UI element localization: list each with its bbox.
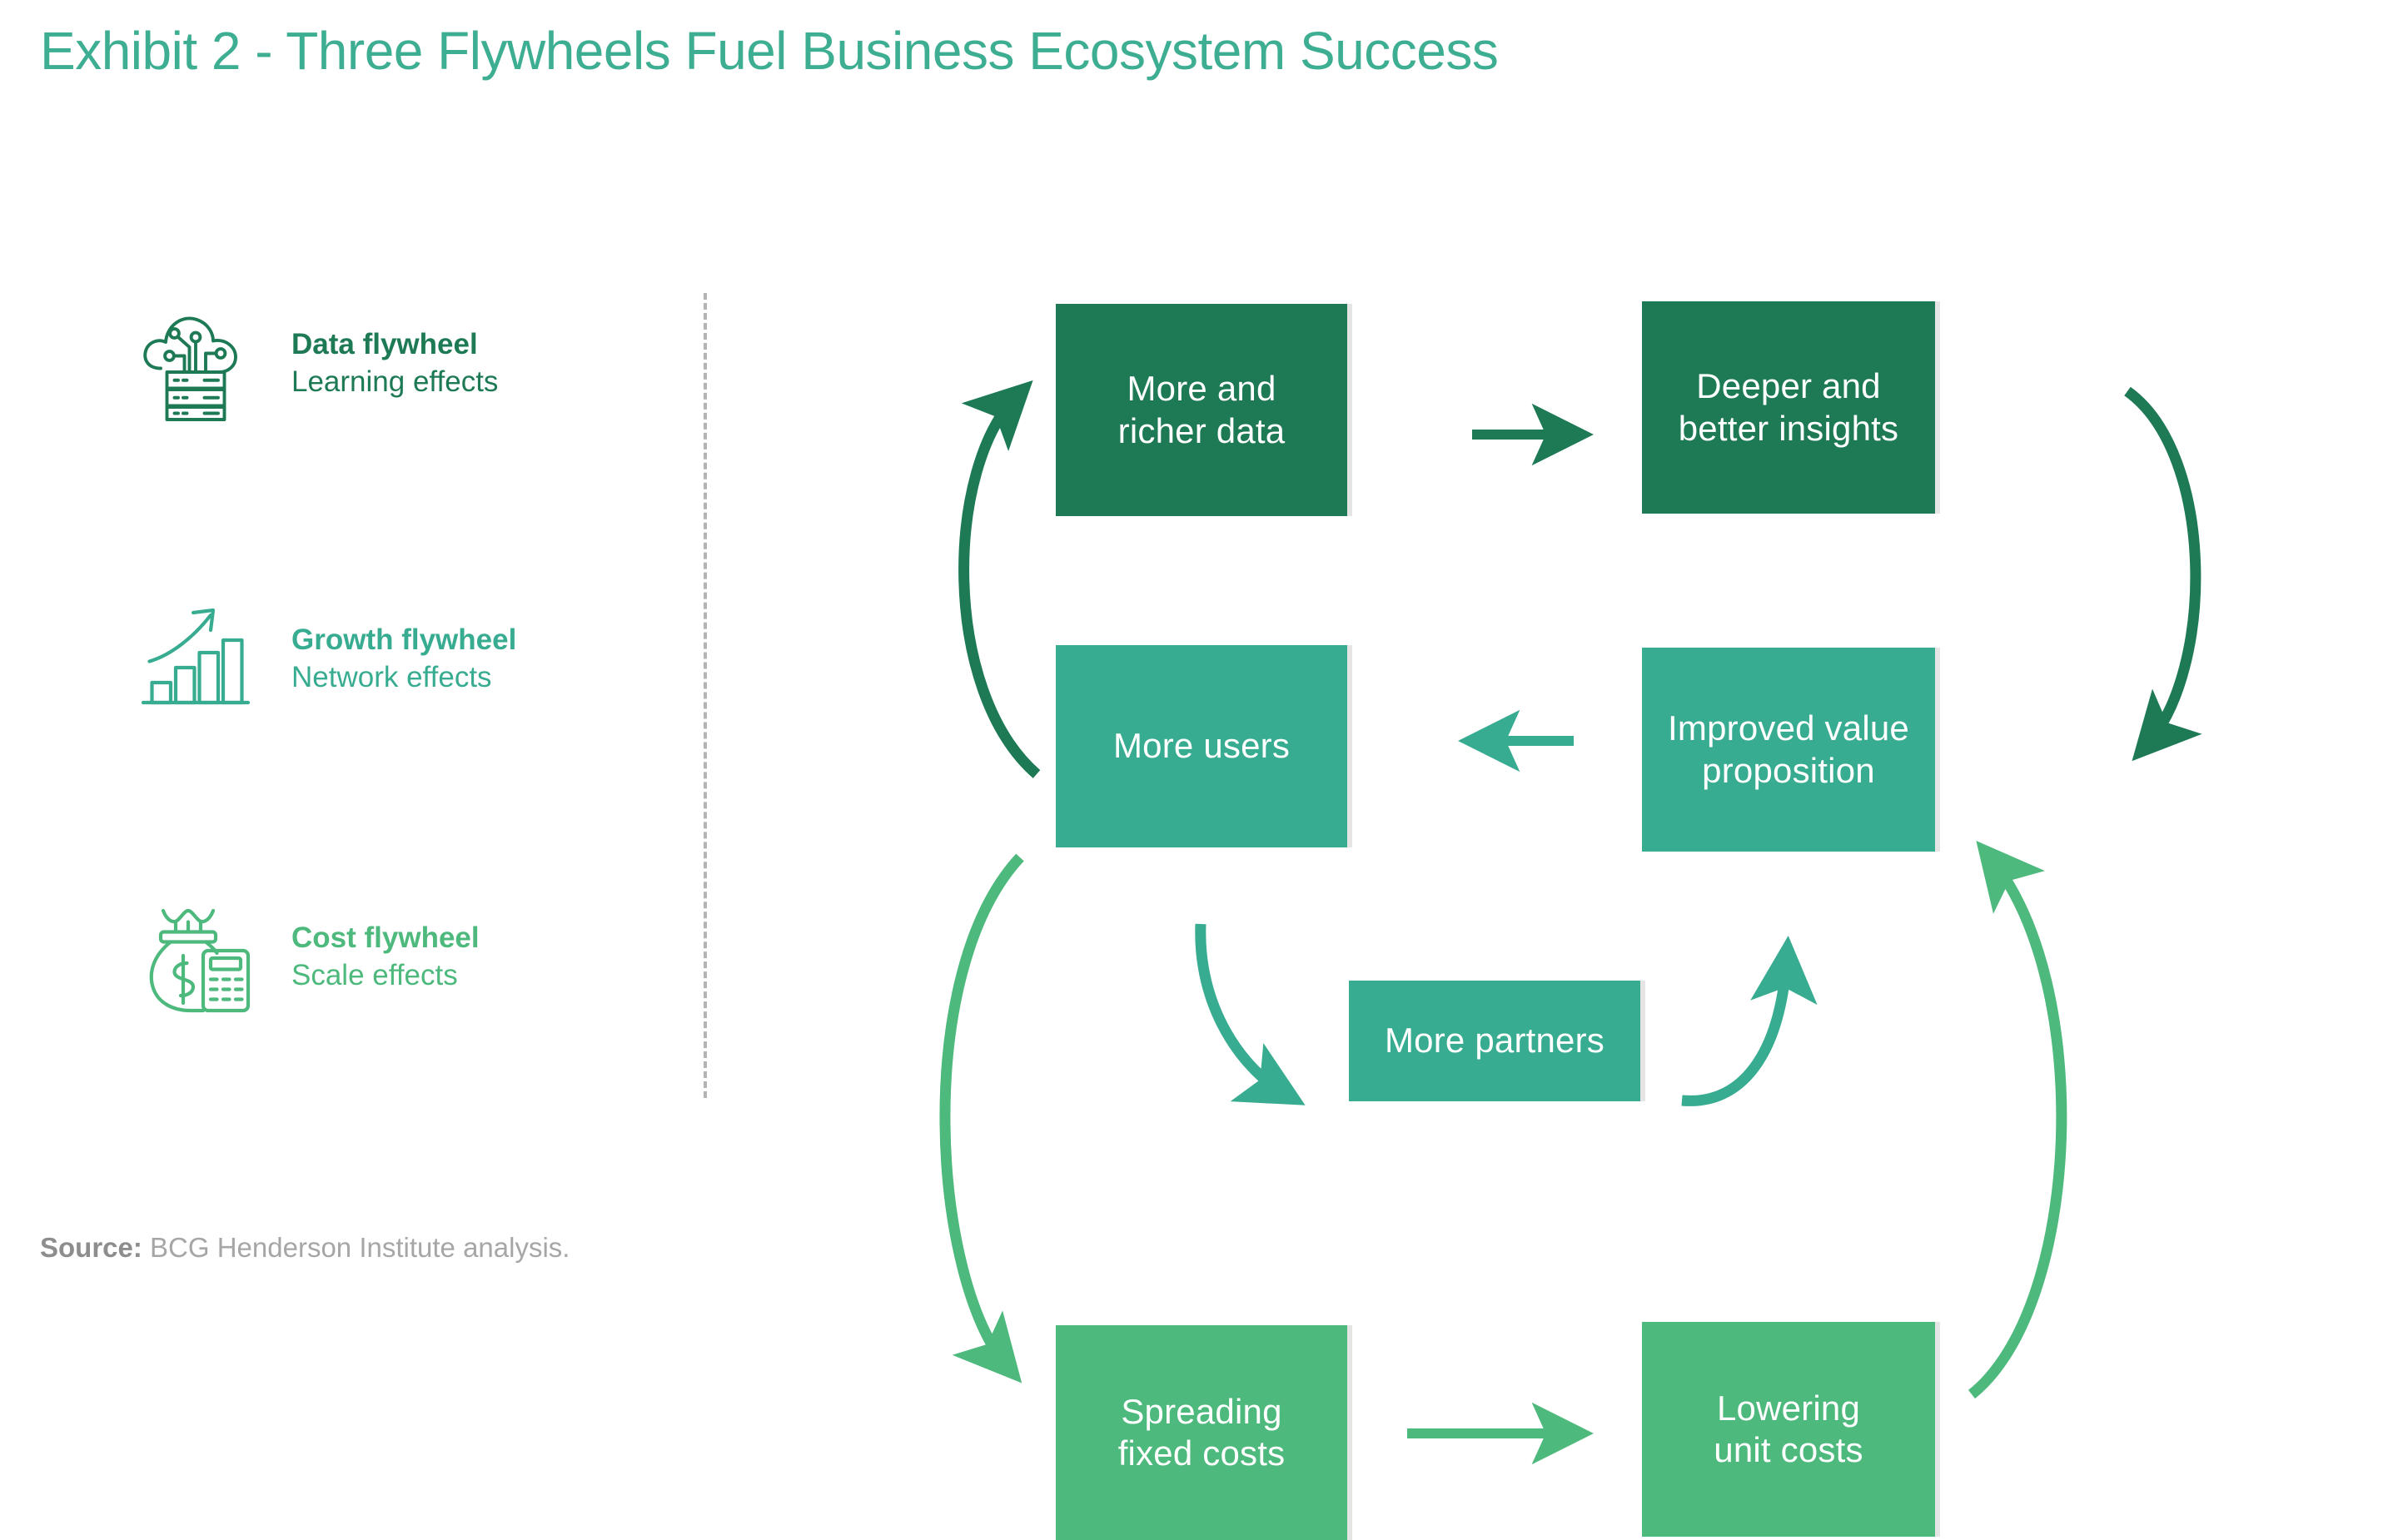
- node-line: fixed costs: [1118, 1433, 1286, 1474]
- node-line: richer data: [1118, 410, 1286, 452]
- node-more-partners[interactable]: More partners: [1349, 981, 1640, 1101]
- node-spreading-fixed-costs[interactable]: Spreading fixed costs: [1056, 1325, 1347, 1540]
- node-line: Lowering: [1714, 1388, 1863, 1429]
- node-line: proposition: [1668, 750, 1909, 792]
- legend-text-cost-flywheel: Cost flywheel Scale effects: [291, 917, 480, 994]
- legend-title: Data flywheel: [291, 326, 498, 363]
- node-line: Spreading: [1118, 1391, 1286, 1433]
- cloud-server-data-icon: [133, 300, 258, 425]
- source-label: Source:: [40, 1232, 142, 1263]
- arrow-unit-costs-to-value: [1972, 857, 2062, 1394]
- source-note: Source: BCG Henderson Institute analysis…: [40, 1232, 570, 1264]
- node-lowering-unit-costs[interactable]: Lowering unit costs: [1642, 1322, 1935, 1537]
- arrow-partners-to-value: [1682, 957, 1787, 1100]
- node-line: More partners: [1385, 1020, 1604, 1061]
- source-text: BCG Henderson Institute analysis.: [150, 1232, 570, 1263]
- growth-bar-chart-arrow-icon: [133, 595, 258, 720]
- legend-title: Cost flywheel: [291, 920, 480, 956]
- node-more-and-richer-data[interactable]: More and richer data: [1056, 304, 1347, 516]
- page-title: Exhibit 2 - Three Flywheels Fuel Busines…: [40, 22, 1498, 80]
- legend-item-cost-flywheel: Cost flywheel Scale effects: [133, 893, 480, 1018]
- money-bag-calculator-icon: [133, 893, 258, 1018]
- legend-title: Growth flywheel: [291, 622, 516, 658]
- flywheel-diagram: More and richer data Deeper and better i…: [916, 275, 2398, 1115]
- arrow-users-to-fixed-costs: [945, 857, 1020, 1367]
- legend-subtitle: Scale effects: [291, 956, 480, 995]
- legend-item-data-flywheel: Data flywheel Learning effects: [133, 300, 498, 425]
- legend-text-growth-flywheel: Growth flywheel Network effects: [291, 618, 516, 696]
- legend-subtitle: Learning effects: [291, 363, 498, 401]
- arrow-insights-to-value: [2127, 391, 2196, 745]
- legend-subtitle: Network effects: [291, 658, 516, 697]
- arrow-users-to-partners: [1201, 924, 1286, 1095]
- vertical-dashed-divider: [704, 293, 707, 1098]
- node-line: better insights: [1679, 408, 1898, 450]
- node-line: Improved value: [1668, 708, 1909, 749]
- legend-item-growth-flywheel: Growth flywheel Network effects: [133, 595, 516, 720]
- node-line: More and: [1118, 368, 1286, 410]
- node-improved-value-proposition[interactable]: Improved value proposition: [1642, 648, 1935, 852]
- legend-text-data-flywheel: Data flywheel Learning effects: [291, 323, 498, 400]
- node-more-users[interactable]: More users: [1056, 645, 1347, 847]
- arrow-users-to-data: [964, 395, 1037, 774]
- node-line: Deeper and: [1679, 365, 1898, 407]
- node-line: More users: [1113, 725, 1290, 767]
- node-line: unit costs: [1714, 1429, 1863, 1471]
- node-deeper-and-better-insights[interactable]: Deeper and better insights: [1642, 301, 1935, 514]
